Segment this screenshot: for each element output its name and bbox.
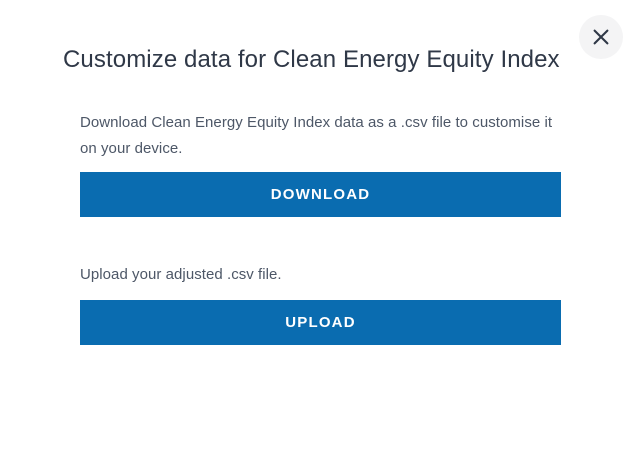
upload-description: Upload your adjusted .csv file. [80, 262, 561, 288]
customize-data-dialog: Customize data for Clean Energy Equity I… [0, 0, 639, 451]
download-button[interactable]: DOWNLOAD [80, 172, 561, 217]
download-description: Download Clean Energy Equity Index data … [80, 110, 561, 162]
close-dialog-button[interactable] [579, 15, 623, 59]
download-section: Download Clean Energy Equity Index data … [80, 110, 561, 162]
close-icon [591, 27, 611, 47]
dialog-title: Customize data for Clean Energy Equity I… [63, 44, 560, 76]
upload-section: Upload your adjusted .csv file. UPLOAD [80, 262, 561, 288]
upload-button[interactable]: UPLOAD [80, 300, 561, 345]
